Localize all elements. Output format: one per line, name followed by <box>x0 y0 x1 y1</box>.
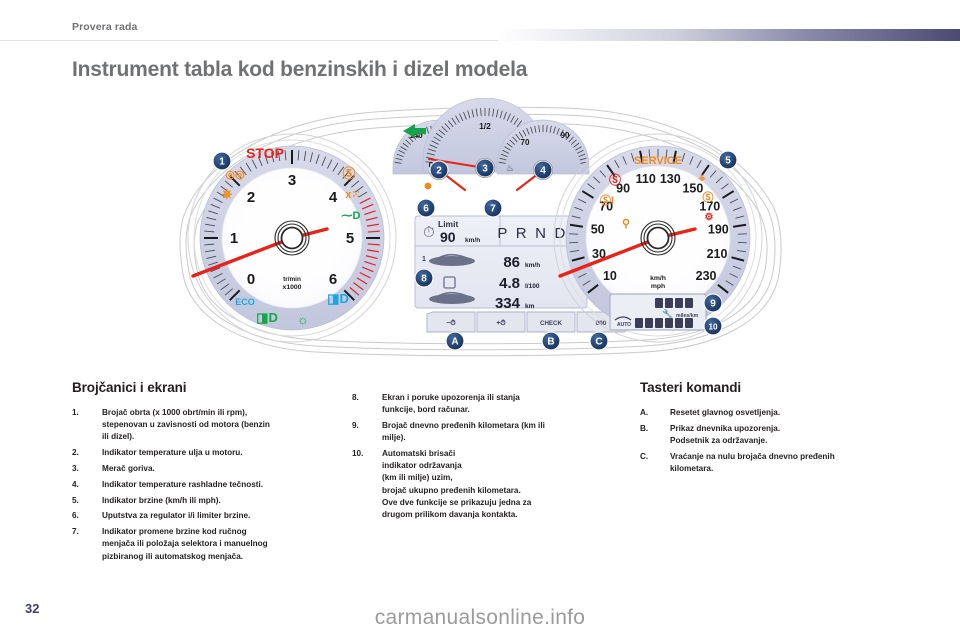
tach-tick-label: 5 <box>346 230 354 247</box>
callout-B: B <box>541 331 560 350</box>
tach-unit-2: x1000 <box>283 284 302 291</box>
lowbeam-icon: ◨D <box>256 310 278 325</box>
fuel-tick-half: 1/2 <box>479 121 491 131</box>
trip-distance-unit: km <box>525 303 535 310</box>
column-mid-list: 8.Ekran i poruke upozorenja ili stanjafu… <box>352 392 624 521</box>
list-item: 9.Brojač dnevno pređenih kilometara (km … <box>352 420 624 444</box>
limit-unit: km/h <box>465 237 480 244</box>
chapter-label: Provera rada <box>72 21 137 33</box>
list-item-marker: 9. <box>352 420 359 432</box>
brake-warning-icon: Ⓢ <box>609 172 621 187</box>
speedo-tick-label: 10 <box>603 269 617 283</box>
list-item-marker: 1. <box>72 407 79 419</box>
wrench-icon: 🔧 <box>662 308 673 319</box>
brake-icon: Ⓢ <box>342 166 355 181</box>
sidelight-icon: ☼ <box>297 312 309 327</box>
list-item-marker: 3. <box>72 463 79 475</box>
list-item-line: Uputstva za regulator i/i limiter brzine… <box>102 510 344 522</box>
list-item: 5.Indikator brzine (km/h ili mph). <box>72 495 344 507</box>
list-item-marker: 8. <box>352 392 359 404</box>
list-item-line: funkcije, bord računar. <box>382 404 624 416</box>
tach-stop-text: STOP <box>246 145 284 161</box>
list-item-marker: 7. <box>72 526 79 538</box>
trip-speed-unit: km/h <box>525 262 540 269</box>
list-item-line: menjača ili položaja selektora i manueln… <box>102 538 344 550</box>
list-item-marker: 10. <box>352 448 363 460</box>
list-item-line: Merač goriva. <box>102 463 344 475</box>
list-item: 10.Automatski brisačiindikator održavanj… <box>352 448 624 521</box>
speedo-unit-1: km/h <box>650 275 666 282</box>
list-item: A.Resetet glavnog osvetljenja. <box>640 407 930 419</box>
list-item: 3.Merač goriva. <box>72 463 344 475</box>
column-mid: 8.Ekran i poruke upozorenja ili stanjafu… <box>352 380 624 525</box>
coolant-tick-70: 70 <box>521 138 530 147</box>
list-item-line: Indikator brzine (km/h ili mph). <box>102 495 344 507</box>
page-header: Provera rada <box>0 0 960 44</box>
tach-tick-label: 3 <box>288 172 296 189</box>
list-item-marker: 6. <box>72 510 79 522</box>
trip-speed-value: 86 <box>503 254 520 271</box>
callout-1: 1 <box>212 151 231 170</box>
callout-9: 9 <box>703 293 722 312</box>
highbeam-icon: ◨D <box>327 291 349 306</box>
airbag-icon: Ⓢ <box>703 190 714 204</box>
instrument-cluster-illustration: 0123456 STOP tr/min x1000 ◎◎ ⎈ Ⓢ x⁙ ⁓D E… <box>175 98 785 360</box>
list-item-line: Podsetnik za održavanje. <box>670 435 930 447</box>
header-gradient-bar <box>498 29 960 41</box>
list-item-marker: 2. <box>72 447 79 459</box>
list-item-marker: 4. <box>72 479 79 491</box>
speedo-unit-2: mph <box>651 283 665 290</box>
callout-label: 9 <box>710 299 716 310</box>
list-item-line: kilometara. <box>670 463 930 475</box>
speedo-tick-label: 50 <box>591 222 605 236</box>
list-item: 1.Brojač obrta (x 1000 obrt/min ili rpm)… <box>72 407 344 444</box>
eco-icon: ECO <box>235 297 255 307</box>
callout-8: 8 <box>414 268 433 287</box>
column-left-heading: Brojčanici i ekrani <box>72 380 344 395</box>
tach-tick-label: 0 <box>247 271 255 288</box>
callout-5: 5 <box>718 150 737 169</box>
list-item: C.Vraćanje na nulu brojača dnevno pređen… <box>640 451 930 475</box>
callout-2: 2 <box>429 160 448 179</box>
list-item-marker: 5. <box>72 495 79 507</box>
list-item-line: Indikator temperature rashladne tečnosti… <box>102 479 344 491</box>
footer-watermark: carmanualsonline.info <box>0 606 960 630</box>
button-minus-label: −⏱ <box>446 319 456 327</box>
odometer-panel: 🔧 miles/km AUTO <box>610 294 706 330</box>
list-item-line: stepenovan u zavisnosti od motora (benzi… <box>102 419 344 431</box>
callout-3: 3 <box>475 158 494 177</box>
list-item-line: brojač ukupno pređenih kilometara. <box>382 485 624 497</box>
column-right-heading: Tasteri komandi <box>640 380 930 395</box>
list-item-marker: C. <box>640 451 648 463</box>
tach-tick-label: 2 <box>247 189 255 206</box>
trip-index: 1 <box>422 256 426 263</box>
list-item-line: Prikaz dnevnika upozorenja. <box>670 423 930 435</box>
list-item: B.Prikaz dnevnika upozorenja.Podsetnik z… <box>640 423 930 447</box>
door-open-icon: ⚙ <box>705 212 714 223</box>
list-item-line: Indikator temperature ulja u motoru. <box>102 447 344 459</box>
service-text: SERVICE <box>634 155 682 167</box>
speedo-tick-label: 190 <box>708 222 729 236</box>
page-title: Instrument tabla kod benzinskih i dizel … <box>72 58 527 82</box>
list-item-line: Indikator promene brzine kod ručnog <box>102 526 344 538</box>
list-item-marker: A. <box>640 407 648 419</box>
speedometer-mini-icon: ⏱ <box>423 224 435 241</box>
list-item-marker: B. <box>640 423 648 435</box>
list-item-line: pizbiranog ili automatskog menjača. <box>102 551 344 563</box>
list-item-line: Resetet glavnog osvetljenja. <box>670 407 930 419</box>
oil-icon: x⁙ <box>345 189 360 201</box>
control-buttons-row: −⏱ +⏱ CHECK 000 <box>427 312 625 332</box>
callout-label: B <box>547 337 554 348</box>
speedo-tick-label: 110 <box>636 172 656 186</box>
list-item-line: Brojač dnevno pređenih kilometara (km il… <box>382 420 624 432</box>
stability-icon: ⚲ <box>622 218 630 230</box>
list-item: 8.Ekran i poruke upozorenja ili stanjafu… <box>352 392 624 416</box>
list-item-line: indikator održavanja <box>382 460 624 472</box>
rear-fog-icon: ⁓D <box>342 210 361 222</box>
speedo-tick-label: 230 <box>696 269 717 283</box>
list-item-line: Ekran i poruke upozorenja ili stanja <box>382 392 624 404</box>
callout-label: 10 <box>708 323 718 332</box>
callout-label: C <box>595 337 602 348</box>
callout-C: C <box>589 331 608 350</box>
tach-tick-label: 4 <box>329 189 338 206</box>
column-right: Tasteri komandi A.Resetet glavnog osvetl… <box>640 380 930 479</box>
seatbelt-icon: ⚶ <box>698 172 706 182</box>
tach-tick-label: 1 <box>230 230 238 247</box>
list-item: 2.Indikator temperature ulja u motoru. <box>72 447 344 459</box>
tach-unit-1: tr/min <box>283 276 301 283</box>
callout-label: 8 <box>421 274 427 285</box>
list-item: 7.Indikator promene brzine kod ručnogmen… <box>72 526 344 563</box>
callout-label: 5 <box>725 156 731 167</box>
list-item-line: drugom prilikom davanja kontakta. <box>382 509 624 521</box>
callout-label: 2 <box>436 166 442 177</box>
callout-label: 1 <box>219 157 225 168</box>
column-left-list: 1.Brojač obrta (x 1000 obrt/min ili rpm)… <box>72 407 344 563</box>
callout-10: 10 <box>703 316 722 335</box>
coolant-tick-90: 90 <box>561 131 570 140</box>
list-item-line: Brojač obrta (x 1000 obrt/min ili rpm), <box>102 407 344 419</box>
list-item-line: milje). <box>382 432 624 444</box>
speedo-tick-label: 210 <box>707 247 728 261</box>
glasses-icon: ◎◎ <box>225 169 245 181</box>
callout-6: 6 <box>416 198 435 217</box>
list-item-line: Vraćanje na nulu brojača dnevno pređenih <box>670 451 930 463</box>
callout-label: 3 <box>482 164 488 175</box>
speedo-tick-label: 150 <box>682 181 703 195</box>
trip-consumption-value: 4.8 <box>499 275 520 292</box>
list-item: 6.Uputstva za regulator i/i limiter brzi… <box>72 510 344 522</box>
trip-consumption-unit: l/100 <box>525 283 540 290</box>
list-item-line: (km ili milje) uzim, <box>382 472 624 484</box>
callout-4: 4 <box>533 160 552 179</box>
speedo-tick-label: 130 <box>660 172 681 186</box>
list-item: 4.Indikator temperature rashladne tečnos… <box>72 479 344 491</box>
abs-icon: ⓈI <box>600 193 614 207</box>
limit-label: Limit <box>438 219 458 229</box>
fuel-low-indicator <box>425 183 432 190</box>
list-item-line: ili dizel). <box>102 431 344 443</box>
auto-wiper-label: AUTO <box>617 322 631 328</box>
column-right-list: A.Resetet glavnog osvetljenja.B.Prikaz d… <box>640 407 930 475</box>
callout-label: A <box>451 337 458 348</box>
center-display-panel: ⏱ Limit 90 km/h P R N D M 1 86 km/h 4.8 … <box>415 216 589 312</box>
column-left: Brojčanici i ekrani 1.Brojač obrta (x 10… <box>72 380 344 566</box>
button-plus-label: +⏱ <box>496 319 506 327</box>
list-item-line: Automatski brisači <box>382 448 624 460</box>
callout-label: 4 <box>540 166 546 177</box>
engine-icon: ⎈ <box>222 186 233 201</box>
callout-label: 7 <box>490 204 496 215</box>
trip-distance-value: 334 <box>495 295 521 312</box>
limit-value: 90 <box>440 229 456 245</box>
callout-A: A <box>445 331 464 350</box>
callout-7: 7 <box>483 198 502 217</box>
button-check-label: CHECK <box>540 320 563 327</box>
tach-tick-label: 6 <box>329 271 337 288</box>
coolant-symbol-icon: ♨ <box>506 163 514 173</box>
callout-label: 6 <box>423 204 429 215</box>
list-item-line: Ove dve funkcije se prikazuju jedna za <box>382 497 624 509</box>
